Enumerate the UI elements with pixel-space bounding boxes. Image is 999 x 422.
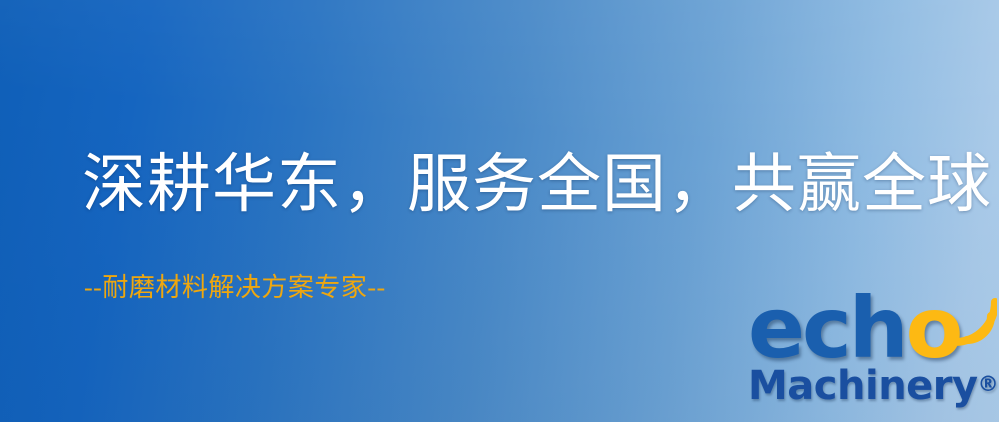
banner-headline: 深耕华东，服务全国，共赢全球 xyxy=(82,151,942,218)
logo-tagline: Machinery® xyxy=(748,366,999,406)
registered-trademark-icon: ® xyxy=(978,372,999,396)
signal-waves-icon xyxy=(935,296,997,358)
hero-banner: 深耕华东，服务全国，共赢全球 --耐磨材料解决方案专家-- echo Machi… xyxy=(0,0,999,422)
company-logo[interactable]: echo Machinery® xyxy=(744,296,999,422)
banner-subtitle: --耐磨材料解决方案专家-- xyxy=(84,267,386,304)
logo-tagline-text: Machinery xyxy=(748,363,978,409)
logo-wordmark: echo xyxy=(748,286,960,370)
logo-mark: echo Machinery® xyxy=(744,296,999,422)
